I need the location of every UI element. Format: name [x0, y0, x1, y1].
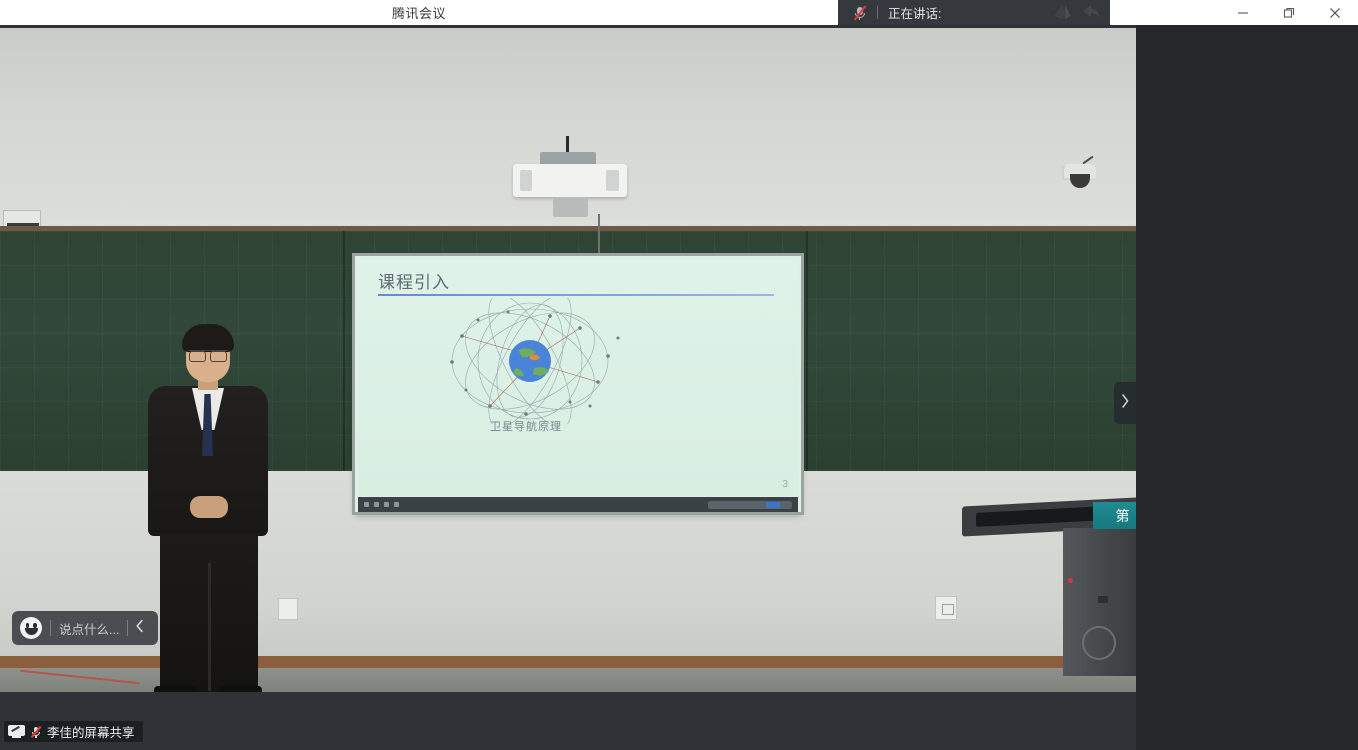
reply-arrow-icon — [1080, 2, 1102, 22]
smiley-icon[interactable] — [20, 617, 42, 639]
divider — [127, 620, 128, 636]
slide-page-number: 3 — [782, 479, 788, 490]
arrow-glyph-icon — [1052, 2, 1078, 22]
divider — [877, 6, 878, 19]
screen-share-icon — [8, 725, 25, 739]
smartboard-toolbar[interactable] — [358, 497, 798, 512]
dome-camera-icon — [1062, 164, 1098, 190]
speaking-label: 正在讲话: — [888, 3, 941, 22]
chat-input-placeholder[interactable]: 说点什么... — [59, 619, 119, 638]
close-button[interactable] — [1312, 0, 1358, 25]
speaking-glyphs — [1052, 2, 1102, 22]
stage-bottom-strip: 李佳的屏幕共享 — [0, 692, 1136, 750]
chat-input-bar[interactable]: 说点什么... — [12, 611, 158, 645]
toolbar-pen-icon[interactable] — [374, 502, 379, 507]
window-controls — [1110, 0, 1358, 25]
slide-title-rule — [378, 294, 774, 296]
toolbar-eraser-icon[interactable] — [384, 502, 389, 507]
app-tab-label: 腾讯会议 — [392, 3, 446, 22]
toolbar-progress[interactable] — [708, 501, 792, 509]
minimize-button[interactable] — [1220, 0, 1266, 25]
slide-caption: 卫星导航原理 — [446, 418, 606, 434]
classroom-video: 课程引入 — [0, 28, 1136, 695]
chevron-right-icon — [1120, 393, 1130, 414]
lectern-power-led — [1068, 578, 1073, 583]
projector-lens — [553, 197, 588, 217]
meeting-window: 腾讯会议 正在讲话: — [0, 0, 1358, 750]
shared-screen-stage[interactable]: 课程引入 — [0, 25, 1136, 750]
panel-toggle-button[interactable] — [1114, 382, 1136, 424]
toolbar-home-icon[interactable] — [364, 502, 369, 507]
slide-surface: 课程引入 — [358, 260, 798, 496]
app-tab[interactable]: 腾讯会议 — [0, 0, 838, 25]
projector-cable — [598, 214, 600, 262]
podium-banner: 第 — [1093, 502, 1136, 529]
speaking-indicator: 正在讲话: — [838, 0, 1110, 25]
projection-screen: 课程引入 — [355, 256, 801, 512]
slide-title: 课程引入 — [378, 268, 450, 293]
maximize-button[interactable] — [1266, 0, 1312, 25]
mic-muted-icon — [852, 5, 867, 21]
chalkboard-right-panel — [806, 231, 1136, 471]
satellite-orbit-diagram — [430, 298, 630, 424]
chevron-left-icon[interactable] — [135, 619, 145, 638]
mic-muted-icon — [30, 725, 42, 738]
title-bar: 腾讯会议 正在讲话: — [0, 0, 1358, 25]
divider — [50, 620, 51, 636]
share-owner-label: 李佳的屏幕共享 — [47, 722, 135, 741]
wall-outlet-secondary — [935, 596, 957, 620]
lectern-slot — [1098, 596, 1108, 603]
toolbar-grid-icon[interactable] — [394, 502, 399, 507]
projector-icon — [513, 164, 627, 197]
lectern-fan-icon — [1082, 626, 1116, 660]
participants-rail: 李佳的屏幕共享 ★ ★ ★ ★ ★ 上海市第五届青年教师教学竞赛集体观摩题 理学… — [1136, 25, 1358, 750]
active-share-tag: 李佳的屏幕共享 — [4, 721, 143, 742]
